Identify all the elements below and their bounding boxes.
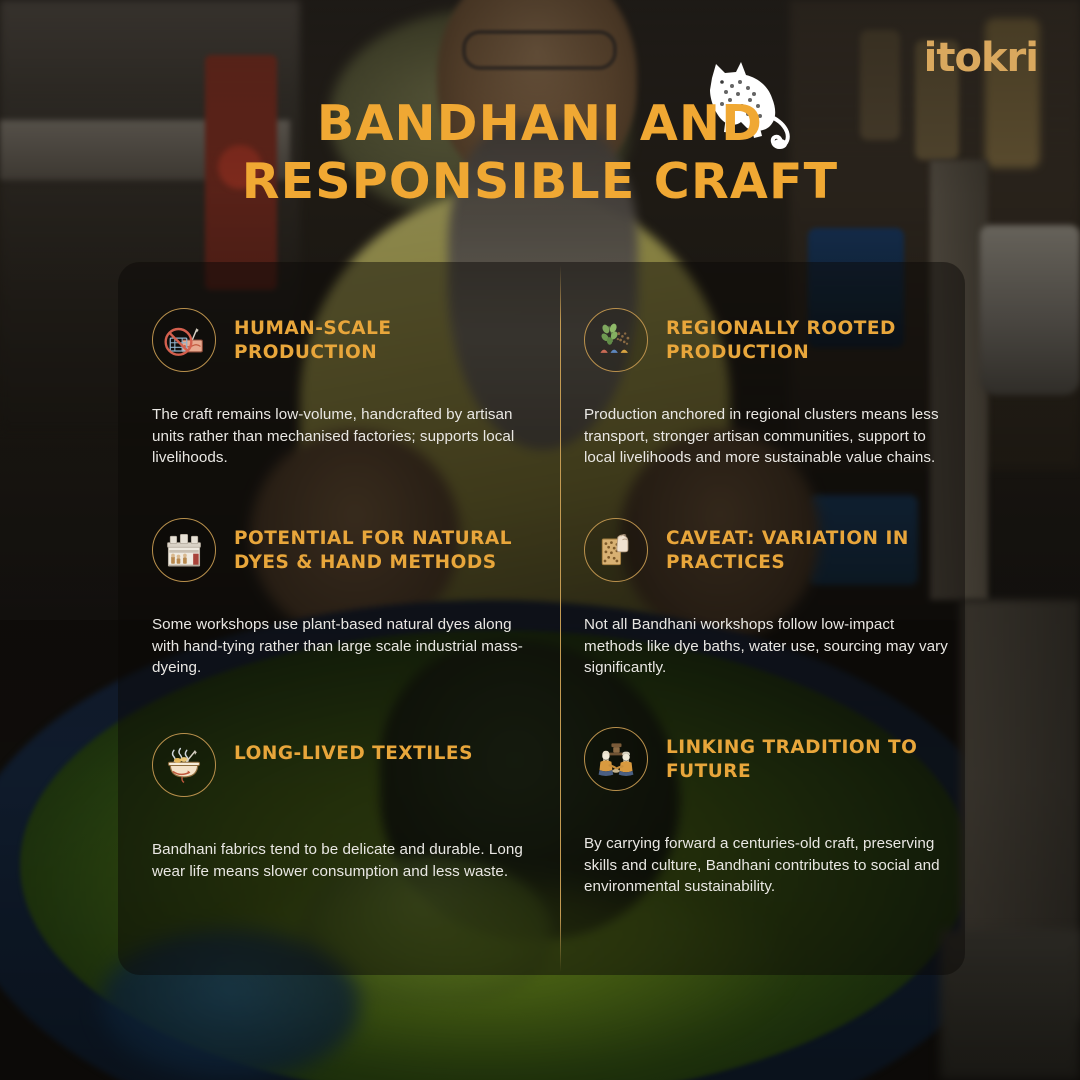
- card-header: REGIONALLY ROOTED PRODUCTION: [584, 308, 949, 372]
- card-body: Some workshops use plant-based natural d…: [152, 614, 538, 679]
- infographic-poster: itokri BANDHANI AND RES: [0, 0, 1080, 1080]
- card-title: REGIONALLY ROOTED PRODUCTION: [666, 308, 949, 366]
- card-long-lived-textiles: LONG-LIVED TEXTILES Bandhani fabrics ten…: [118, 681, 560, 975]
- two-artisans-icon: [584, 727, 648, 791]
- card-body: By carrying forward a centuries-old craf…: [584, 833, 949, 898]
- card-body: Production anchored in regional clusters…: [584, 404, 949, 469]
- itokri-logo[interactable]: itokri: [924, 38, 1038, 78]
- card-header: POTENTIAL FOR NATURAL DYES & HAND METHOD…: [152, 518, 538, 582]
- card-caveat-variation-in-practices: CAVEAT: VARIATION IN PRACTICES Not all B…: [560, 472, 965, 681]
- card-title: POTENTIAL FOR NATURAL DYES & HAND METHOD…: [234, 518, 534, 576]
- card-potential-for-natural-dyes: POTENTIAL FOR NATURAL DYES & HAND METHOD…: [118, 472, 560, 681]
- page-title: BANDHANI AND RESPONSIBLE CRAFT: [0, 95, 1080, 211]
- card-title: CAVEAT: VARIATION IN PRACTICES: [666, 518, 949, 576]
- hand-holding-fabric-icon: [584, 518, 648, 582]
- card-header: HUMAN-SCALE PRODUCTION: [152, 308, 538, 372]
- card-body: The craft remains low-volume, handcrafte…: [152, 404, 538, 469]
- card-title: HUMAN-SCALE PRODUCTION: [234, 308, 534, 366]
- card-regionally-rooted-production: REGIONALLY ROOTED PRODUCTION Production …: [560, 262, 965, 472]
- poster-header: itokri BANDHANI AND RES: [0, 0, 1080, 250]
- card-title: LONG-LIVED TEXTILES: [234, 733, 473, 766]
- page-title-line1: BANDHANI AND: [317, 95, 763, 152]
- steaming-dye-pot-icon: [152, 733, 216, 797]
- card-body: Not all Bandhani workshops follow low-im…: [584, 614, 949, 679]
- card-header: CAVEAT: VARIATION IN PRACTICES: [584, 518, 949, 582]
- card-header: LONG-LIVED TEXTILES: [152, 733, 538, 797]
- card-body: Bandhani fabrics tend to be delicate and…: [152, 839, 538, 882]
- no-factory-icon: [152, 308, 216, 372]
- workshop-building-icon: [152, 518, 216, 582]
- card-header: LINKING TRADITION TO FUTURE: [584, 727, 949, 791]
- page-title-line2: RESPONSIBLE CRAFT: [0, 153, 1080, 211]
- card-human-scale-production: HUMAN-SCALE PRODUCTION The craft remains…: [118, 262, 560, 472]
- card-grid: HUMAN-SCALE PRODUCTION The craft remains…: [118, 262, 965, 975]
- card-linking-tradition-to-future: LINKING TRADITION TO FUTURE By carrying …: [560, 681, 965, 975]
- card-title: LINKING TRADITION TO FUTURE: [666, 727, 949, 785]
- plant-sprout-dye-powders-icon: [584, 308, 648, 372]
